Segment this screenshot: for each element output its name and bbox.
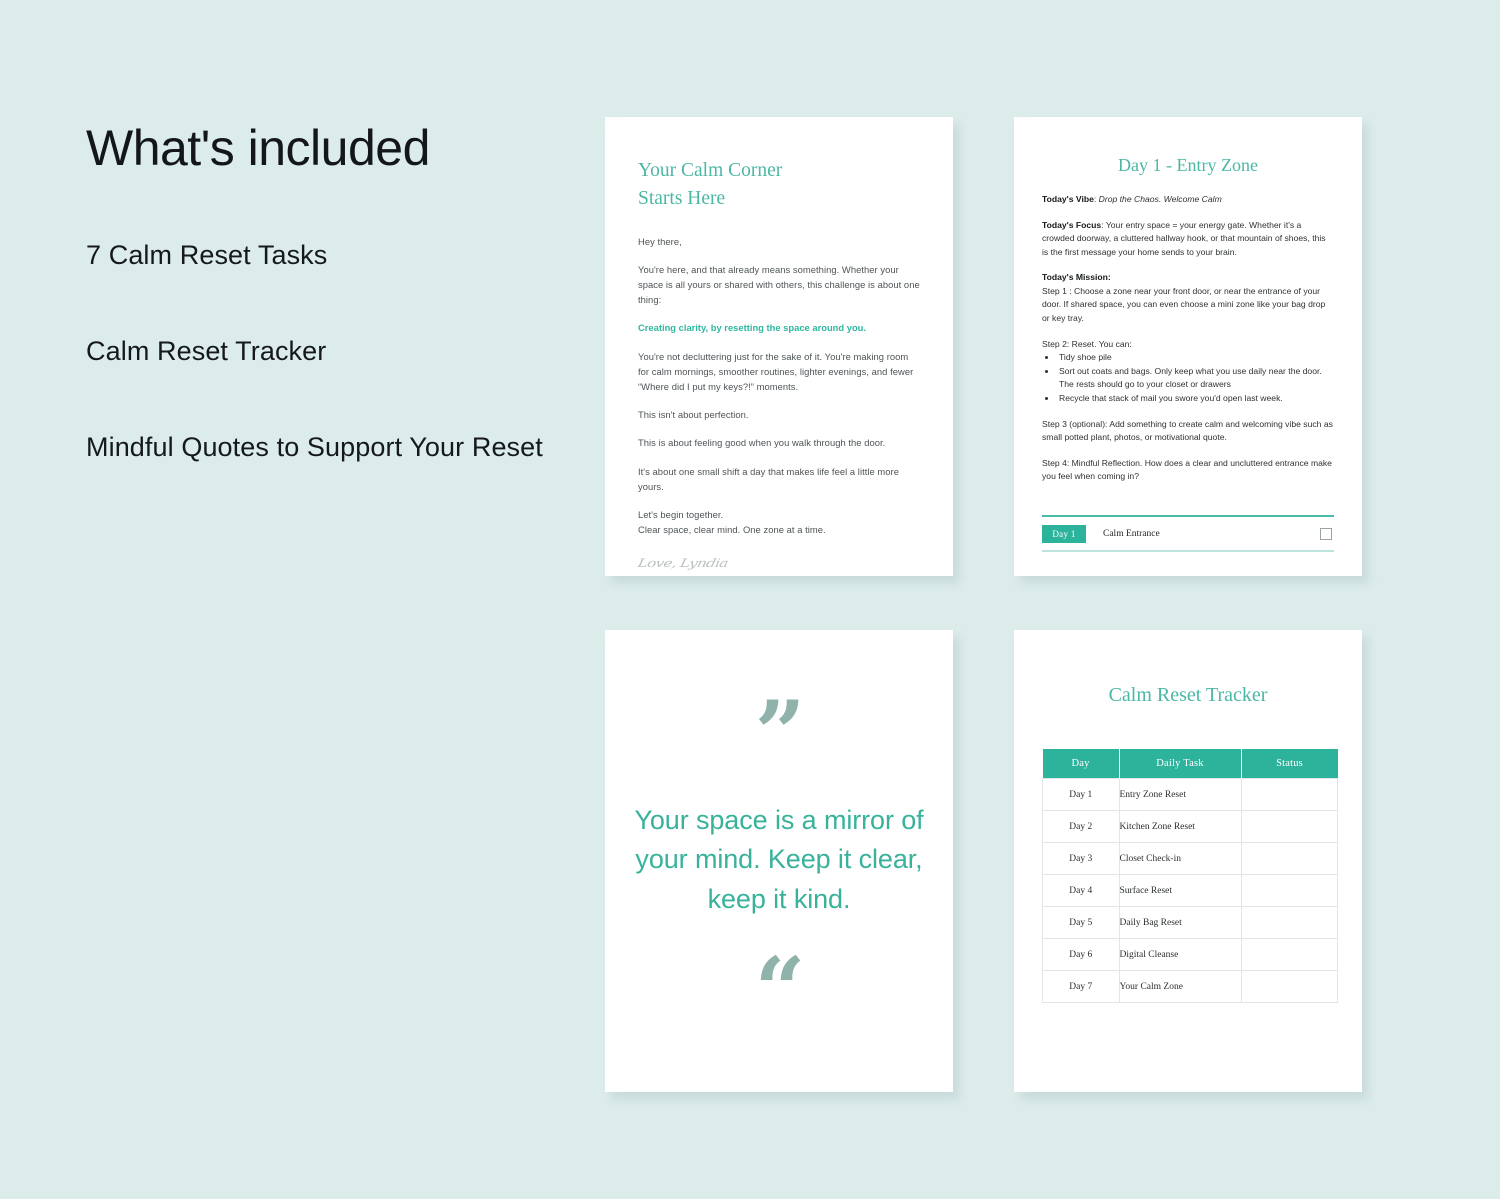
day1-badge: Day 1: [1042, 525, 1086, 543]
page-title: What's included: [86, 122, 556, 175]
cell-task: Digital Cleanse: [1119, 939, 1241, 971]
day1-mission-label: Today's Mission:: [1042, 271, 1334, 285]
day1-step-4: Step 4: Mindful Reflection. How does a c…: [1042, 457, 1334, 484]
cell-status[interactable]: [1241, 907, 1338, 939]
letter-paragraph-1: You're here, and that already means some…: [638, 262, 920, 308]
welcome-letter-card: Your Calm Corner Starts Here Hey there, …: [605, 117, 953, 576]
column-header-day: Day: [1043, 749, 1120, 779]
day1-step-2-list: Tidy shoe pile Sort out coats and bags. …: [1042, 351, 1334, 405]
cell-day: Day 2: [1043, 811, 1120, 843]
table-header-row: Day Daily Task Status: [1043, 749, 1338, 779]
divider-bottom: [1042, 550, 1334, 552]
cell-task: Your Calm Zone: [1119, 971, 1241, 1003]
day1-title: Day 1 - Entry Zone: [1042, 155, 1334, 176]
cell-day: Day 4: [1043, 875, 1120, 907]
letter-title-line2: Starts Here: [638, 185, 920, 213]
cell-task: Kitchen Zone Reset: [1119, 811, 1241, 843]
cell-status[interactable]: [1241, 779, 1338, 811]
feature-item-quotes: Mindful Quotes to Support Your Reset: [86, 429, 556, 465]
tracker-title: Calm Reset Tracker: [1042, 684, 1334, 707]
day1-task-checkbox[interactable]: [1320, 528, 1332, 540]
day1-focus-label: Today's Focus: [1042, 220, 1101, 230]
cell-task: Closet Check-in: [1119, 843, 1241, 875]
cell-status[interactable]: [1241, 811, 1338, 843]
day1-task-footer: Day 1 Calm Entrance: [1042, 515, 1334, 552]
quote-mark-top-icon: ”: [755, 709, 804, 757]
quote-mark-bottom-icon: “: [755, 965, 804, 1013]
table-row: Day 6 Digital Cleanse: [1043, 939, 1338, 971]
letter-paragraph-3: This isn't about perfection.: [638, 407, 920, 422]
table-row: Day 4 Surface Reset: [1043, 875, 1338, 907]
cell-day: Day 1: [1043, 779, 1120, 811]
table-row: Day 5 Daily Bag Reset: [1043, 907, 1338, 939]
divider-top: [1042, 515, 1334, 517]
cell-task: Entry Zone Reset: [1119, 779, 1241, 811]
table-row: Day 1 Entry Zone Reset: [1043, 779, 1338, 811]
feature-item-tasks: 7 Calm Reset Tasks: [86, 237, 556, 273]
mindful-quote-card: ” Your space is a mirror of your mind. K…: [605, 630, 953, 1092]
letter-title: Your Calm Corner Starts Here: [638, 157, 920, 214]
whats-included-section: What's included 7 Calm Reset Tasks Calm …: [86, 122, 556, 466]
table-row: Day 3 Closet Check-in: [1043, 843, 1338, 875]
day1-entry-zone-card: Day 1 - Entry Zone Today's Vibe: Drop th…: [1014, 117, 1362, 576]
tracker-table: Day Daily Task Status Day 1 Entry Zone R…: [1042, 749, 1338, 1003]
column-header-daily-task: Daily Task: [1119, 749, 1241, 779]
letter-paragraph-5: It's about one small shift a day that ma…: [638, 464, 920, 494]
letter-greeting: Hey there,: [638, 234, 920, 249]
quote-text: Your space is a mirror of your mind. Kee…: [631, 801, 927, 918]
day1-vibe: Today's Vibe: Drop the Chaos. Welcome Ca…: [1042, 193, 1334, 207]
day1-focus: Today's Focus: Your entry space = your e…: [1042, 219, 1334, 260]
cell-task: Daily Bag Reset: [1119, 907, 1241, 939]
day1-vibe-label: Today's Vibe: [1042, 194, 1094, 204]
column-header-status: Status: [1241, 749, 1338, 779]
letter-paragraph-2: You're not decluttering just for the sak…: [638, 349, 920, 395]
day1-step-3: Step 3 (optional): Add something to crea…: [1042, 418, 1334, 445]
cell-day: Day 6: [1043, 939, 1120, 971]
letter-paragraph-4: This is about feeling good when you walk…: [638, 435, 920, 450]
list-item: Recycle that stack of mail you swore you…: [1057, 392, 1334, 406]
feature-item-tracker: Calm Reset Tracker: [86, 333, 556, 369]
letter-highlight: Creating clarity, by resetting the space…: [638, 320, 920, 335]
cell-status[interactable]: [1241, 875, 1338, 907]
cell-day: Day 3: [1043, 843, 1120, 875]
table-row: Day 2 Kitchen Zone Reset: [1043, 811, 1338, 843]
day1-mission-label-text: Today's Mission:: [1042, 272, 1111, 282]
day1-task-label: Calm Entrance: [1103, 529, 1320, 539]
day1-vibe-text: Drop the Chaos. Welcome Calm: [1099, 194, 1222, 204]
list-item: Sort out coats and bags. Only keep what …: [1057, 365, 1334, 392]
day1-step-2-intro: Step 2: Reset. You can:: [1042, 338, 1334, 352]
cell-status[interactable]: [1241, 939, 1338, 971]
cell-day: Day 5: [1043, 907, 1120, 939]
cell-status[interactable]: [1241, 843, 1338, 875]
signature: Love, Lyndia: [637, 556, 922, 570]
list-item: Tidy shoe pile: [1057, 351, 1334, 365]
table-row: Day 7 Your Calm Zone: [1043, 971, 1338, 1003]
letter-title-line1: Your Calm Corner: [638, 160, 782, 181]
cell-day: Day 7: [1043, 971, 1120, 1003]
day1-step-1: Step 1 : Choose a zone near your front d…: [1042, 285, 1334, 326]
letter-paragraph-6: Let's begin together. Clear space, clear…: [638, 507, 920, 537]
cell-task: Surface Reset: [1119, 875, 1241, 907]
cell-status[interactable]: [1241, 971, 1338, 1003]
calm-reset-tracker-card: Calm Reset Tracker Day Daily Task Status…: [1014, 630, 1362, 1092]
